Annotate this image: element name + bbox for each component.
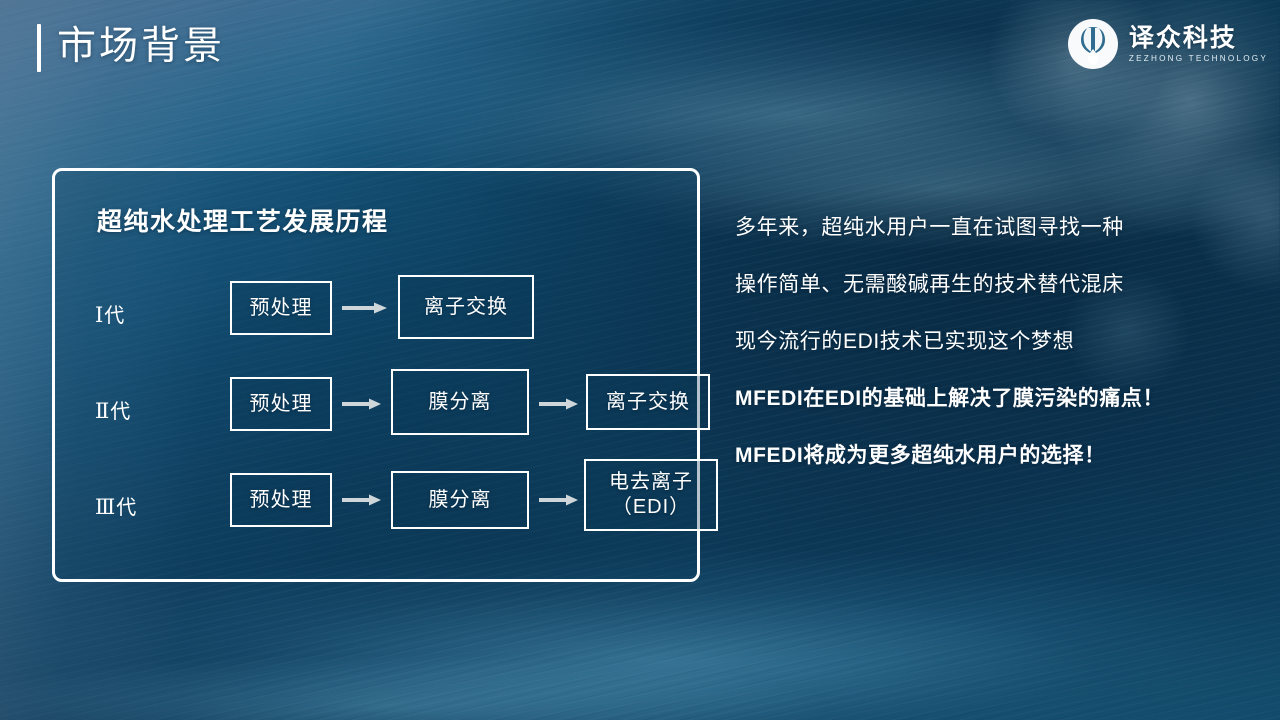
logo-name-en: ZEZHONG TECHNOLOGY xyxy=(1129,53,1268,65)
narrative-line-5: MFEDI将成为更多超纯水用户的选择！ xyxy=(735,442,1255,470)
narrative-text-block: 多年来，超纯水用户一直在试图寻找一种 操作简单、无需酸碱再生的技术替代混床 现今… xyxy=(735,214,1255,470)
generation-label-2: Ⅱ代 xyxy=(95,397,181,426)
flow-node-ion-exchange-1: 离子交换 xyxy=(398,275,534,339)
generation-label-3: Ⅲ代 xyxy=(95,493,181,522)
company-logo: 译众科技 ZEZHONG TECHNOLOGY xyxy=(1067,18,1268,70)
narrative-line-2: 操作简单、无需酸碱再生的技术替代混床 xyxy=(735,271,1255,299)
flow-node-pretreatment-1: 预处理 xyxy=(230,281,332,335)
flow-node-membrane-2: 膜分离 xyxy=(391,369,529,435)
flow-arrow-icon-3b xyxy=(539,493,579,505)
flow-node-edi-line1: 电去离子 xyxy=(609,470,693,495)
slide-canvas: 市场背景 译众科技 ZEZHONG TECHNOLOGY 超纯水处理工艺发展历程 xyxy=(0,0,1280,720)
narrative-line-3: 现今流行的EDI技术已实现这个梦想 xyxy=(735,328,1255,356)
generation-suffix-2: 代 xyxy=(110,401,131,423)
process-history-card: 超纯水处理工艺发展历程 Ⅰ代 预处理 离子交换 Ⅱ代 xyxy=(52,168,700,582)
flow-node-edi-3: 电去离子 （EDI） xyxy=(584,459,718,531)
flow-node-edi-line2: （EDI） xyxy=(609,495,693,520)
logo-text-group: 译众科技 ZEZHONG TECHNOLOGY xyxy=(1129,24,1268,65)
flow-arrow-icon-1a xyxy=(342,301,388,313)
generation-numeral-1: Ⅰ xyxy=(95,303,104,327)
card-title: 超纯水处理工艺发展历程 xyxy=(97,205,389,239)
logo-name-cn: 译众科技 xyxy=(1129,24,1237,53)
generation-numeral-2: Ⅱ xyxy=(95,399,110,423)
water-droplet-logo-icon xyxy=(1067,18,1119,70)
flow-node-membrane-3: 膜分离 xyxy=(391,471,529,529)
flow-node-ion-exchange-2: 离子交换 xyxy=(586,374,710,430)
flow-diagram: Ⅰ代 预处理 离子交换 Ⅱ代 预处理 xyxy=(55,267,703,555)
generation-suffix-1: 代 xyxy=(104,305,125,327)
flow-arrow-icon-2b xyxy=(539,397,579,409)
title-accent-bar xyxy=(37,24,41,72)
flow-node-pretreatment-3: 预处理 xyxy=(230,473,332,527)
narrative-line-1: 多年来，超纯水用户一直在试图寻找一种 xyxy=(735,214,1255,242)
flow-row-gen-2: Ⅱ代 预处理 膜分离 离子交换 xyxy=(55,363,703,459)
generation-label-1: Ⅰ代 xyxy=(95,301,181,330)
page-title: 市场背景 xyxy=(57,20,225,74)
generation-numeral-3: Ⅲ xyxy=(95,495,116,519)
flow-row-gen-3: Ⅲ代 预处理 膜分离 电去离子 （EDI） xyxy=(55,459,703,555)
narrative-line-4: MFEDI在EDI的基础上解决了膜污染的痛点！ xyxy=(735,385,1255,413)
flow-arrow-icon-2a xyxy=(342,397,382,409)
flow-node-pretreatment-2: 预处理 xyxy=(230,377,332,431)
generation-suffix-3: 代 xyxy=(116,497,137,519)
slide-header: 市场背景 译众科技 ZEZHONG TECHNOLOGY xyxy=(0,0,1280,96)
flow-row-gen-1: Ⅰ代 预处理 离子交换 xyxy=(55,267,703,363)
flow-arrow-icon-3a xyxy=(342,493,382,505)
